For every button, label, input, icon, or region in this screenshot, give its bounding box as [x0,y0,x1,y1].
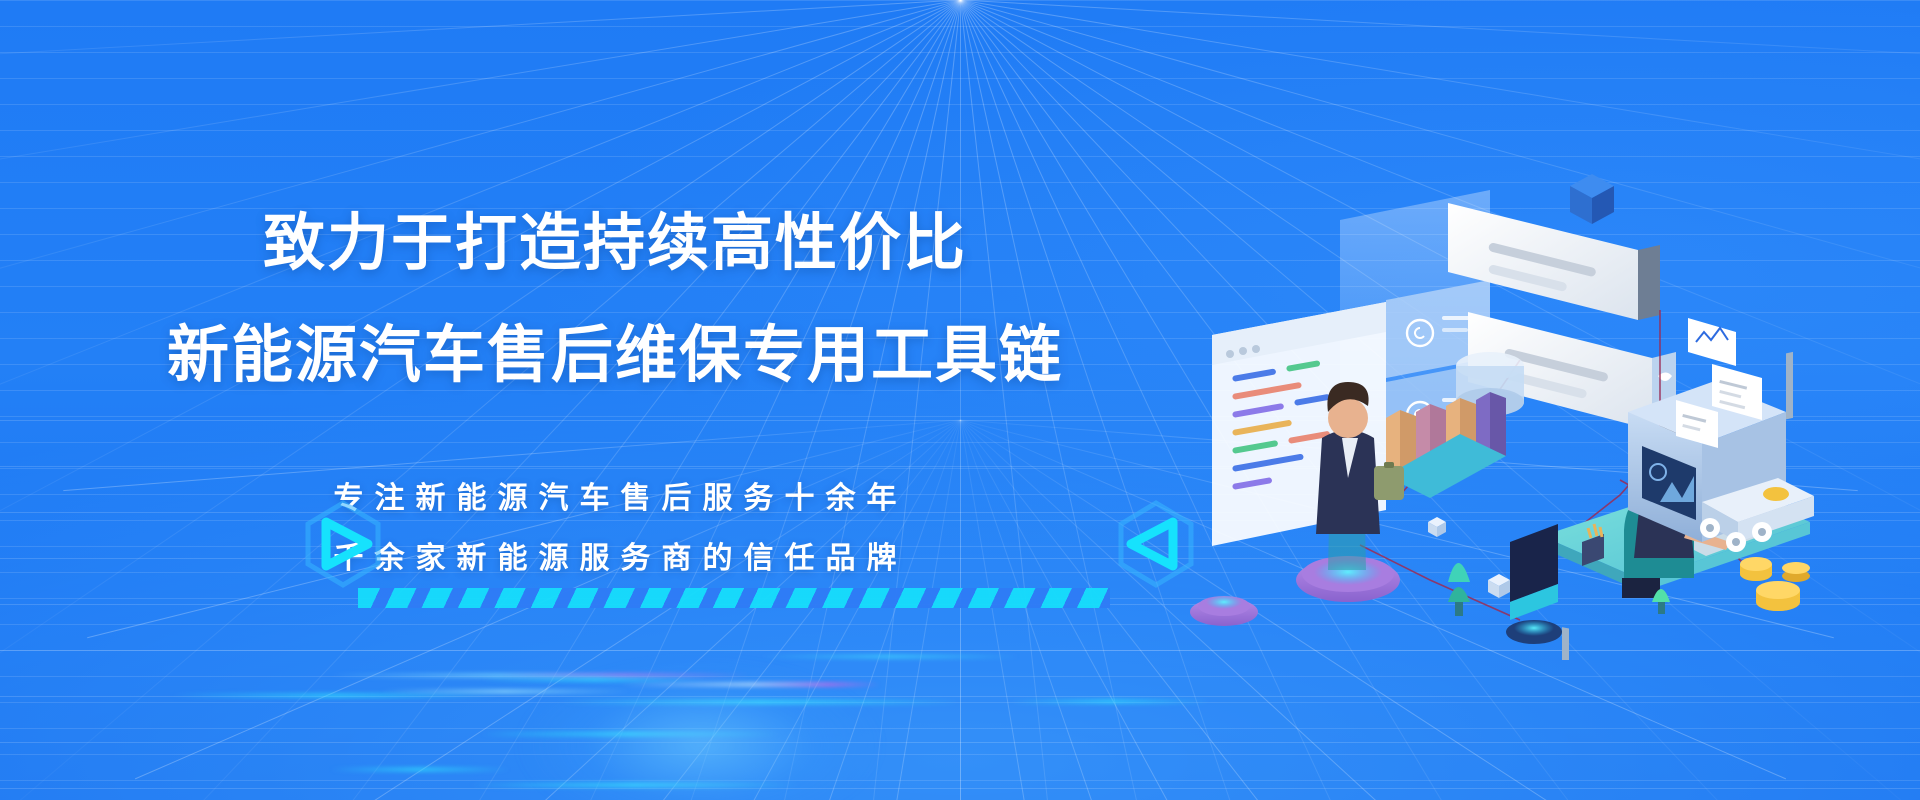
terminal-device [1506,524,1562,644]
pedestal-glow [1190,595,1258,626]
diagonal-stripe-bar [358,588,1110,608]
play-right-hexagon-icon [300,498,386,590]
floating-cube-outline [1570,174,1614,224]
headline-line-2: 新能源汽车售后维保专用工具链 [0,320,1230,392]
subtitle-line-1: 专注新能源汽车售后服务十余年 [0,478,1230,520]
copy-block: 致力于打造持续高性价比 新能源汽车售后维保专用工具链 专注新能源汽车售后服务十余… [0,0,1230,800]
play-left-hexagon-icon [1113,498,1199,590]
banner-root: 致力于打造持续高性价比 新能源汽车售后维保专用工具链 专注新能源汽车售后服务十余… [0,0,1920,800]
subtitle-line-2: 千余家新能源服务商的信任品牌 [0,538,1230,580]
isometric-office-illustration [1190,150,1890,660]
floating-cubes [1428,517,1510,598]
coin-stack [1740,557,1810,611]
headline-line-1: 致力于打造持续高性价比 [0,208,1230,280]
server-machine [1628,318,1814,552]
